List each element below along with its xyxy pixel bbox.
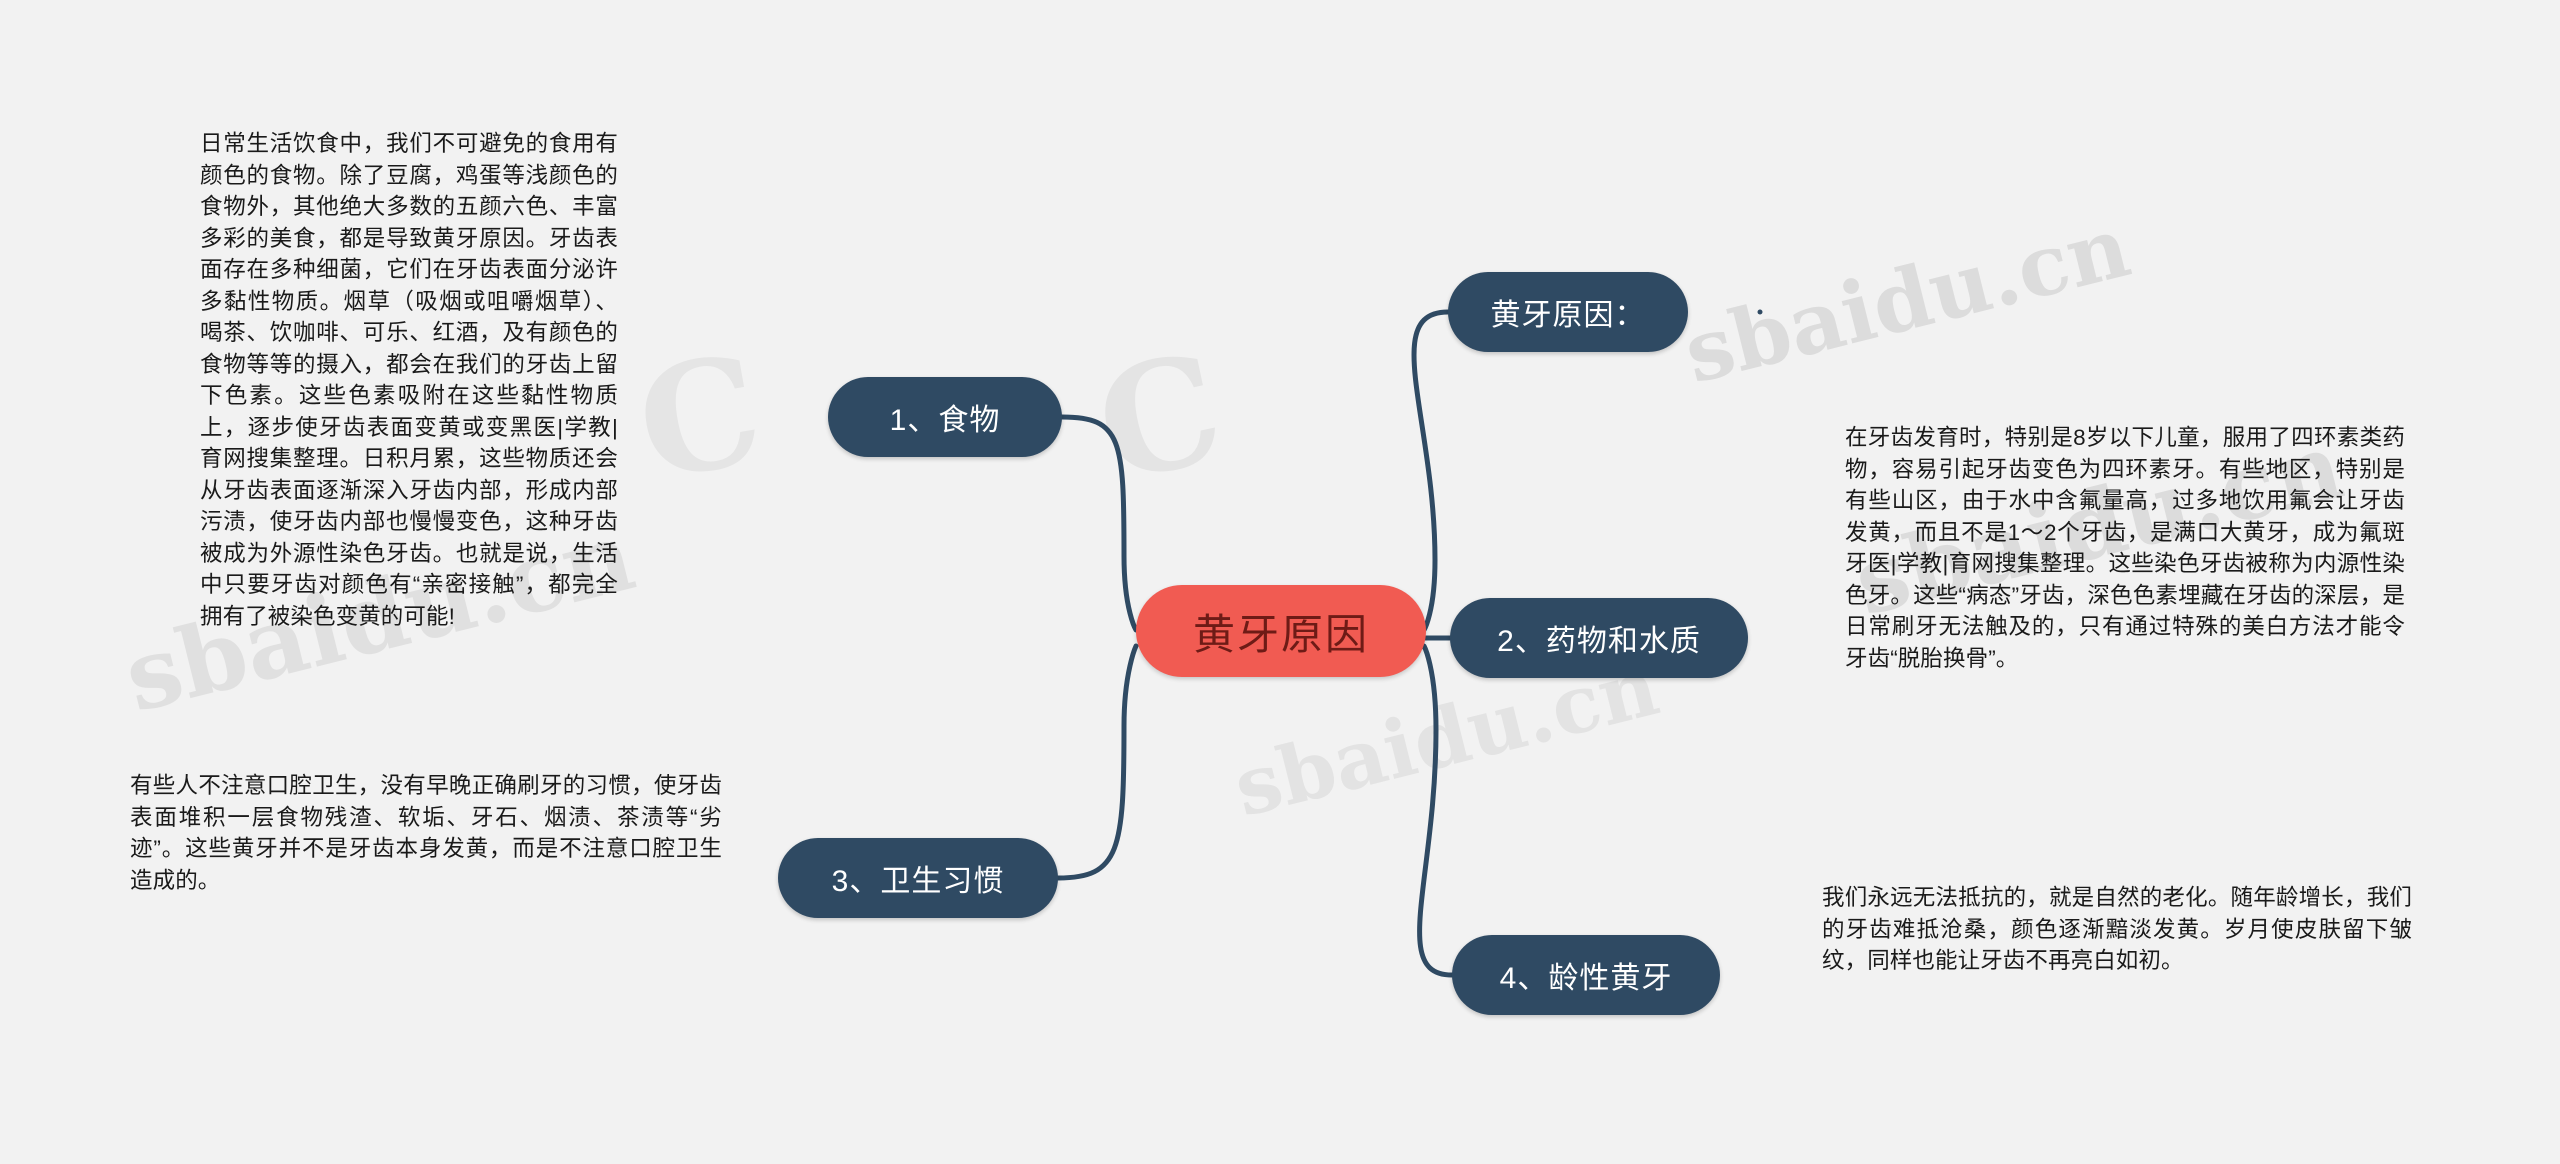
- branch-node-label-3: 3、卫生习惯: [832, 856, 1005, 900]
- root-node-label: 黄牙原因: [1193, 601, 1369, 662]
- branch-node-medicine-water[interactable]: 2、药物和水质: [1450, 598, 1748, 678]
- text-block-hygiene: 有些人不注意口腔卫生，没有早晚正确刷牙的习惯，使牙齿表面堆积一层食物残渣、软垢、…: [130, 770, 722, 896]
- branch-node-hygiene-habits[interactable]: 3、卫生习惯: [778, 838, 1058, 918]
- branch-node-food[interactable]: 1、食物: [828, 377, 1062, 457]
- branch-node-aging-yellow-teeth[interactable]: 4、龄性黄牙: [1452, 935, 1720, 1015]
- text-block-food: 日常生活饮食中，我们不可避免的食用有颜色的食物。除了豆腐，鸡蛋等浅颜色的食物外，…: [200, 128, 618, 632]
- branch-node-label-1: 1、食物: [890, 395, 1001, 439]
- text-block-aging: 我们永远无法抵抗的，就是自然的老化。随年龄增长，我们的牙齿难抵沧桑，颜色逐渐黯淡…: [1822, 882, 2412, 977]
- mindmap-canvas: C C sbaidu.cn sbaidu.cn sbaidu.cn sbaidu…: [0, 0, 2560, 1164]
- branch-node-label-2: 2、药物和水质: [1497, 616, 1701, 660]
- root-node-yellow-teeth-causes[interactable]: 黄牙原因: [1136, 585, 1426, 677]
- text-block-medicine: 在牙齿发育时，特别是8岁以下儿童，服用了四环素类药物，容易引起牙齿变色为四环素牙…: [1845, 422, 2405, 674]
- watermark-glyph-left: C: [1083, 320, 1236, 517]
- branch-node-causes-heading[interactable]: 黄牙原因：: [1448, 272, 1688, 352]
- branch-node-label-0: 黄牙原因：: [1491, 290, 1646, 334]
- watermark-glyph-right: C: [626, 321, 774, 515]
- watermark-text-1: sbaidu.cn: [1675, 197, 2139, 403]
- branch-node-label-4: 4、龄性黄牙: [1500, 953, 1673, 997]
